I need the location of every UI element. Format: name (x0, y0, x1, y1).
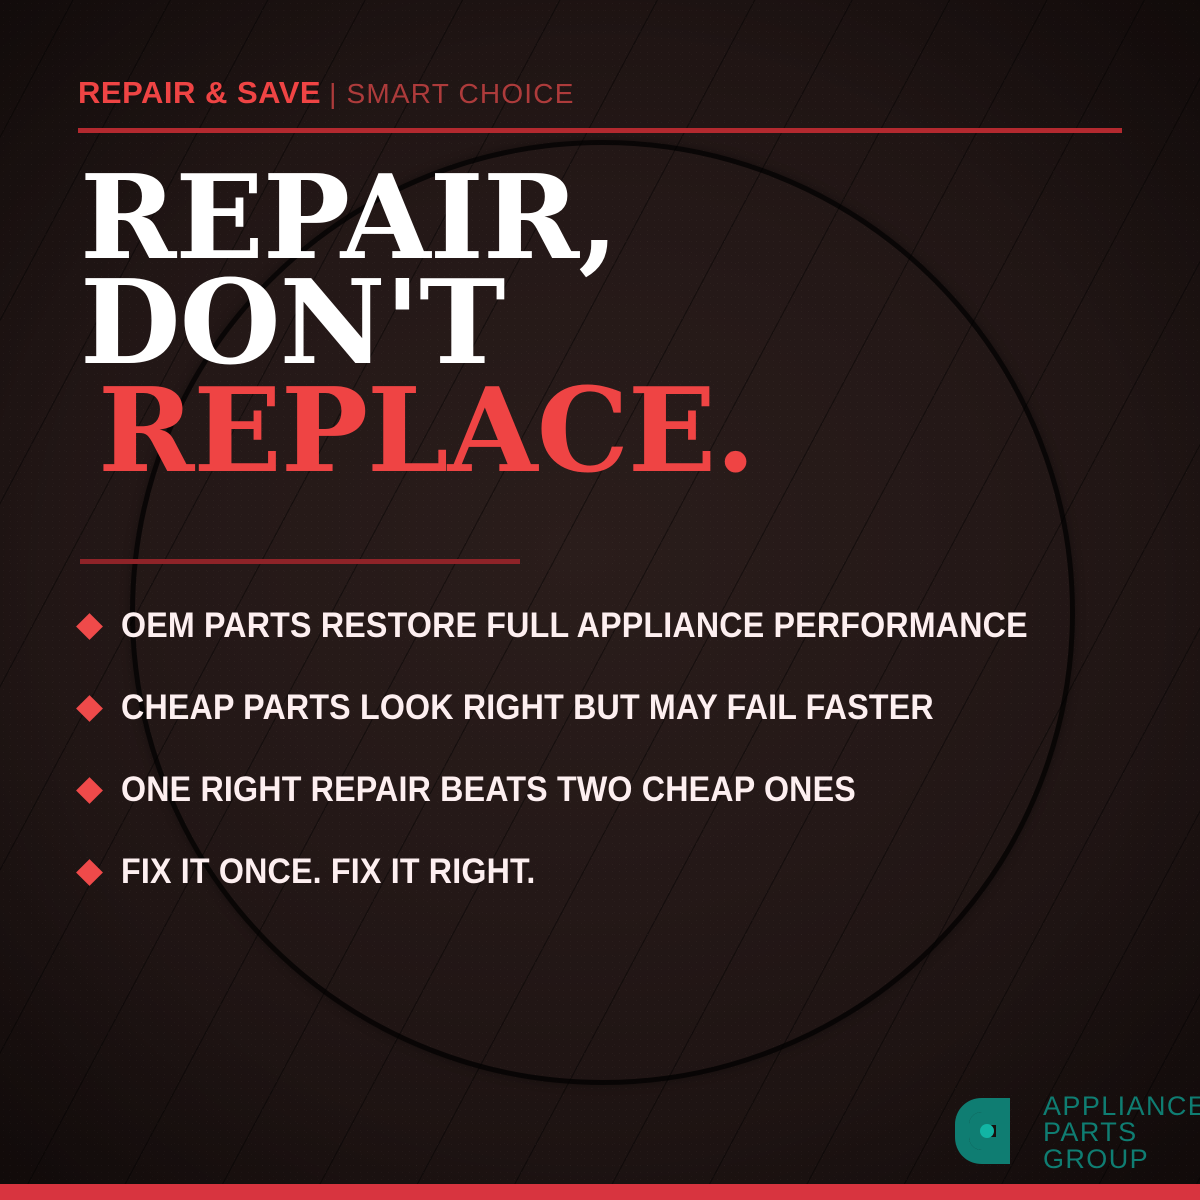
headline-line-3: REPLACE. (98, 376, 755, 487)
eyebrow-brand: REPAIR & SAVE (78, 75, 321, 110)
logo-line-3: GROUP (1043, 1146, 1200, 1172)
list-item: FIX IT ONCE. FIX IT RIGHT. (80, 831, 1160, 913)
benefits-list: OEM PARTS RESTORE FULL APPLIANCE PERFORM… (80, 585, 1160, 913)
diamond-bullet-icon (76, 613, 103, 640)
header-divider-rule (78, 128, 1122, 133)
list-item-label: ONE RIGHT REPAIR BEATS TWO CHEAP ONES (121, 770, 856, 810)
brand-logo: APPLIANCE PARTS GROUP (952, 1092, 1200, 1172)
list-item-label: OEM PARTS RESTORE FULL APPLIANCE PERFORM… (121, 606, 1028, 646)
diamond-bullet-icon (76, 859, 103, 886)
list-item: ONE RIGHT REPAIR BEATS TWO CHEAP ONES (80, 749, 1160, 831)
logo-line-2: PARTS (1043, 1119, 1200, 1145)
g-monogram-icon (952, 1092, 1030, 1170)
bottom-accent-bar (0, 1184, 1200, 1200)
page-title: REPAIR, DON'T REPLACE. (80, 163, 755, 487)
list-item-label: FIX IT ONCE. FIX IT RIGHT. (121, 852, 535, 892)
eyebrow: REPAIR & SAVE| SMART CHOICE (78, 75, 575, 111)
list-item: CHEAP PARTS LOOK RIGHT BUT MAY FAIL FAST… (80, 667, 1160, 749)
headline-divider-rule (80, 559, 520, 564)
list-item: OEM PARTS RESTORE FULL APPLIANCE PERFORM… (80, 585, 1160, 667)
logo-wordmark: APPLIANCE PARTS GROUP (1043, 1092, 1200, 1172)
logo-line-1: APPLIANCE (1043, 1093, 1200, 1119)
list-item-label: CHEAP PARTS LOOK RIGHT BUT MAY FAIL FAST… (121, 688, 934, 728)
diamond-bullet-icon (76, 695, 103, 722)
eyebrow-tagline: | SMART CHOICE (329, 78, 575, 109)
poster-canvas: REPAIR & SAVE| SMART CHOICE REPAIR, DON'… (0, 0, 1200, 1200)
poster-content: REPAIR & SAVE| SMART CHOICE REPAIR, DON'… (0, 0, 1200, 1200)
diamond-bullet-icon (76, 777, 103, 804)
